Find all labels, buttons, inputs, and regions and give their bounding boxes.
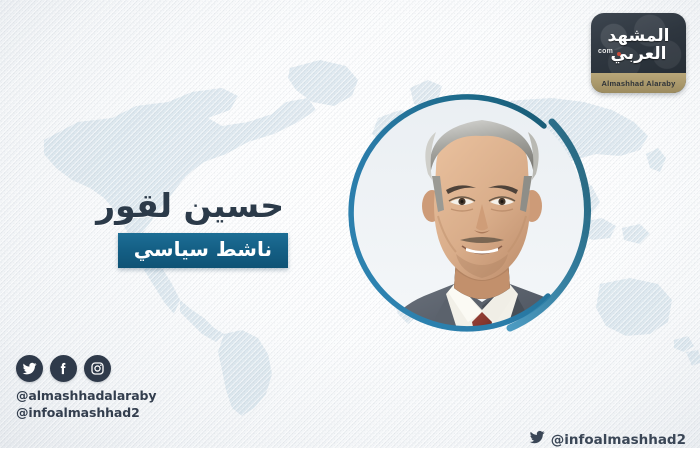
facebook-icon[interactable]: [50, 355, 77, 382]
logo-red-dot: [617, 52, 621, 56]
page-title: حسين لقور: [40, 188, 288, 226]
footer-bar: [0, 448, 700, 459]
logo-latin-text: Almashhad Alaraby: [602, 79, 676, 88]
portrait-circle: [344, 88, 594, 338]
logo-latin-band: Almashhad Alaraby: [591, 73, 686, 93]
almashhad-logo-icon[interactable]: المشهد العربي com Almashhad Alaraby: [591, 13, 686, 93]
logo-com-text: com: [598, 48, 613, 55]
poster-canvas: المشهد العربي com Almashhad Alaraby: [0, 0, 700, 459]
watermark-handle: @infoalmashhad2: [551, 432, 686, 448]
status-badge: ناشط سياسي: [118, 233, 288, 268]
social-handle-primary[interactable]: @almashhadalaraby: [16, 388, 156, 405]
person-info-block: حسين لقور ناشط سياسي: [40, 188, 288, 268]
instagram-icon[interactable]: [84, 355, 111, 382]
social-handle-secondary[interactable]: @infoalmashhad2: [16, 405, 156, 422]
social-block: @almashhadalaraby @infoalmashhad2: [16, 355, 156, 421]
social-icon-row: [16, 355, 156, 382]
portrait-ring-decoration: [338, 82, 600, 344]
twitter-icon: [529, 429, 545, 450]
watermark-block: @infoalmashhad2: [529, 429, 686, 450]
logo-arabic-text: المشهد العربي: [591, 28, 686, 63]
twitter-icon[interactable]: [16, 355, 43, 382]
